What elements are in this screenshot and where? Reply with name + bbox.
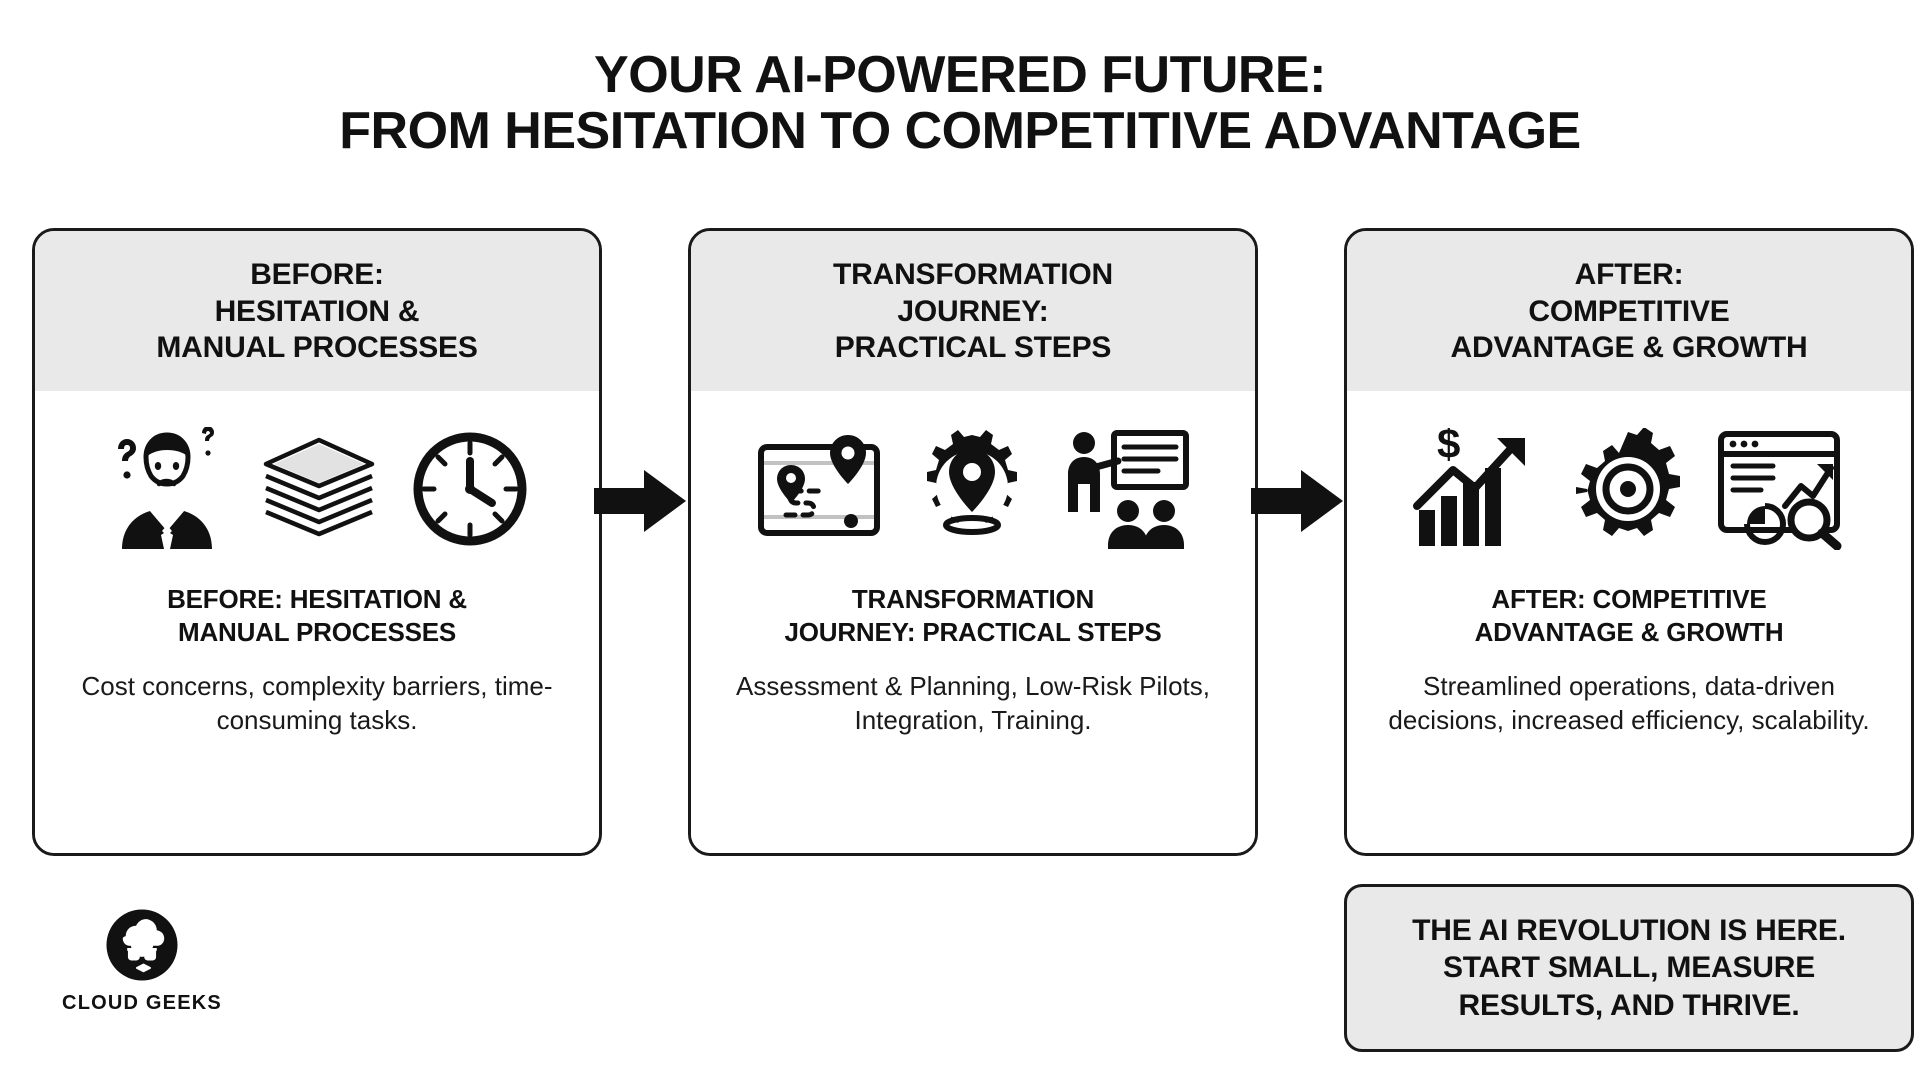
right-arrow-icon [594, 470, 686, 532]
card-header-transformation: TRANSFORMATIONJOURNEY:PRACTICAL STEPS [691, 231, 1255, 391]
logo-text: CLOUD GEEKS [62, 992, 222, 1015]
cloud-geeks-mark-icon [105, 908, 179, 982]
card-transformation-journey[interactable]: TRANSFORMATIONJOURNEY:PRACTICAL STEPS [688, 228, 1258, 856]
presenter-training-icon [1062, 429, 1190, 549]
infographic-canvas: YOUR AI-POWERED FUTURE: FROM HESITATION … [0, 0, 1920, 1080]
card-subtitle-after: AFTER: COMPETITIVEADVANTAGE & GROWTH [1475, 583, 1784, 649]
card-body-after: $ [1347, 391, 1911, 853]
analytics-dashboard-icon [1717, 428, 1845, 550]
right-arrow-icon [1251, 470, 1343, 532]
cloud-geeks-logo[interactable]: CLOUD GEEKS [62, 908, 222, 1015]
page-title-line-2: FROM HESITATION TO COMPETITIVE ADVANTAGE [0, 104, 1920, 160]
card-subtitle-transformation: TRANSFORMATIONJOURNEY: PRACTICAL STEPS [784, 583, 1161, 649]
icon-row-transformation [717, 419, 1229, 559]
card-body-transformation: TRANSFORMATIONJOURNEY: PRACTICAL STEPS A… [691, 391, 1255, 853]
page-title-line-1: YOUR AI-POWERED FUTURE: [0, 48, 1920, 104]
icon-row-after: $ [1373, 419, 1885, 559]
growth-chart-dollar-icon: $ [1413, 428, 1539, 550]
card-description-transformation: Assessment & Planning, Low-Risk Pilots, … [717, 670, 1229, 738]
card-after-competitive-advantage[interactable]: AFTER:COMPETITIVEADVANTAGE & GROWTH [1344, 228, 1914, 856]
gear-cog-icon [1567, 428, 1689, 550]
arrow-transformation-to-after [1251, 470, 1343, 532]
card-subtitle-before: BEFORE: HESITATION &MANUAL PROCESSES [167, 583, 467, 649]
paper-stack-icon [258, 434, 380, 544]
card-description-after: Streamlined operations, data-driven deci… [1373, 670, 1885, 738]
arrow-before-to-transformation [594, 470, 686, 532]
clock-icon [408, 427, 532, 551]
roadmap-pin-icon [756, 431, 882, 547]
card-body-before: BEFORE: HESITATION &MANUAL PROCESSES Cos… [35, 391, 599, 853]
location-gear-icon [910, 427, 1034, 551]
card-before-hesitation[interactable]: BEFORE:HESITATION &MANUAL PROCESSES [32, 228, 602, 856]
svg-text:$: $ [1437, 428, 1460, 467]
card-description-before: Cost concerns, complexity barriers, time… [61, 670, 573, 738]
callout-box: THE AI REVOLUTION IS HERE.START SMALL, M… [1344, 884, 1914, 1052]
confused-businessman-icon [102, 427, 230, 551]
card-header-before: BEFORE:HESITATION &MANUAL PROCESSES [35, 231, 599, 391]
page-title: YOUR AI-POWERED FUTURE: FROM HESITATION … [0, 48, 1920, 159]
card-row: BEFORE:HESITATION &MANUAL PROCESSES [32, 228, 1890, 856]
card-header-after: AFTER:COMPETITIVEADVANTAGE & GROWTH [1347, 231, 1911, 391]
icon-row-before [61, 419, 573, 559]
